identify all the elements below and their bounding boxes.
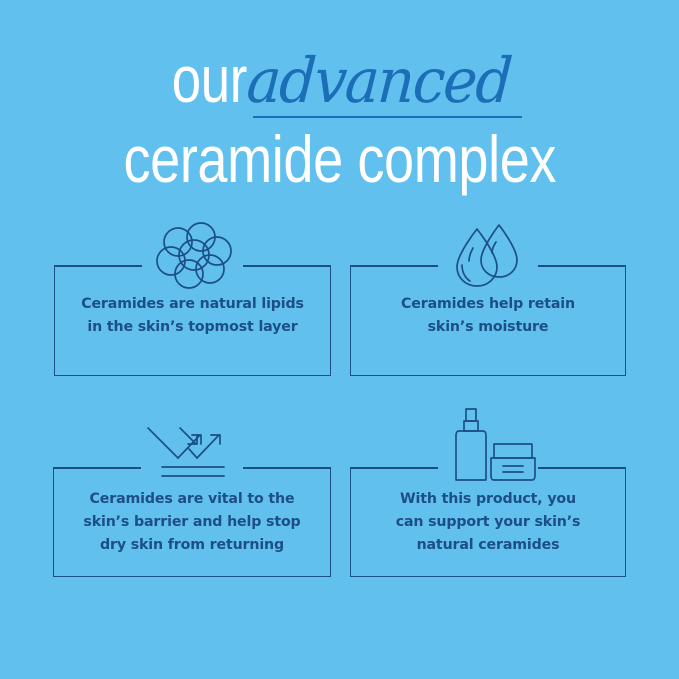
card-border-top-left: [53, 467, 141, 469]
card-border-top-left: [54, 265, 142, 267]
card-text: Ceramides help retain skin’s moisture: [358, 293, 618, 339]
card-border-top-right: [538, 467, 626, 469]
card-text-line-1: With this product, you: [358, 488, 618, 511]
benefit-card-skin-barrier: Ceramides are vital to the skin’s barrie…: [53, 467, 331, 577]
card-text: Ceramides are vital to the skin’s barrie…: [61, 488, 323, 557]
card-text-line-1: Ceramides are natural lipids: [62, 293, 323, 316]
benefit-card-retain-moisture: Ceramides help retain skin’s moisture: [350, 265, 626, 376]
card-border-top-left: [350, 265, 438, 267]
card-border-top-right: [538, 265, 626, 267]
card-text-line-2: can support your skin’s: [358, 511, 618, 534]
card-text-line-3: dry skin from returning: [61, 534, 323, 557]
card-text: With this product, you can support your …: [358, 488, 618, 557]
card-border-top-right: [243, 265, 331, 267]
benefit-card-natural-lipids: Ceramides are natural lipids in the skin…: [54, 265, 331, 376]
benefit-card-grid: Ceramides are natural lipids in the skin…: [0, 0, 679, 679]
card-border-top-right: [243, 467, 331, 469]
card-text-line-1: Ceramides are vital to the: [61, 488, 323, 511]
card-border-top-left: [350, 467, 438, 469]
card-text-line-2: skin’s moisture: [358, 316, 618, 339]
card-text-line-2: in the skin’s topmost layer: [62, 316, 323, 339]
card-text-line-1: Ceramides help retain: [358, 293, 618, 316]
benefit-card-product-support: With this product, you can support your …: [350, 467, 626, 577]
card-text-line-2: skin’s barrier and help stop: [61, 511, 323, 534]
card-text: Ceramides are natural lipids in the skin…: [62, 293, 323, 339]
card-text-line-3: natural ceramides: [358, 534, 618, 557]
ceramide-complex-infographic: ouradvanced ceramide complex: [0, 0, 679, 679]
